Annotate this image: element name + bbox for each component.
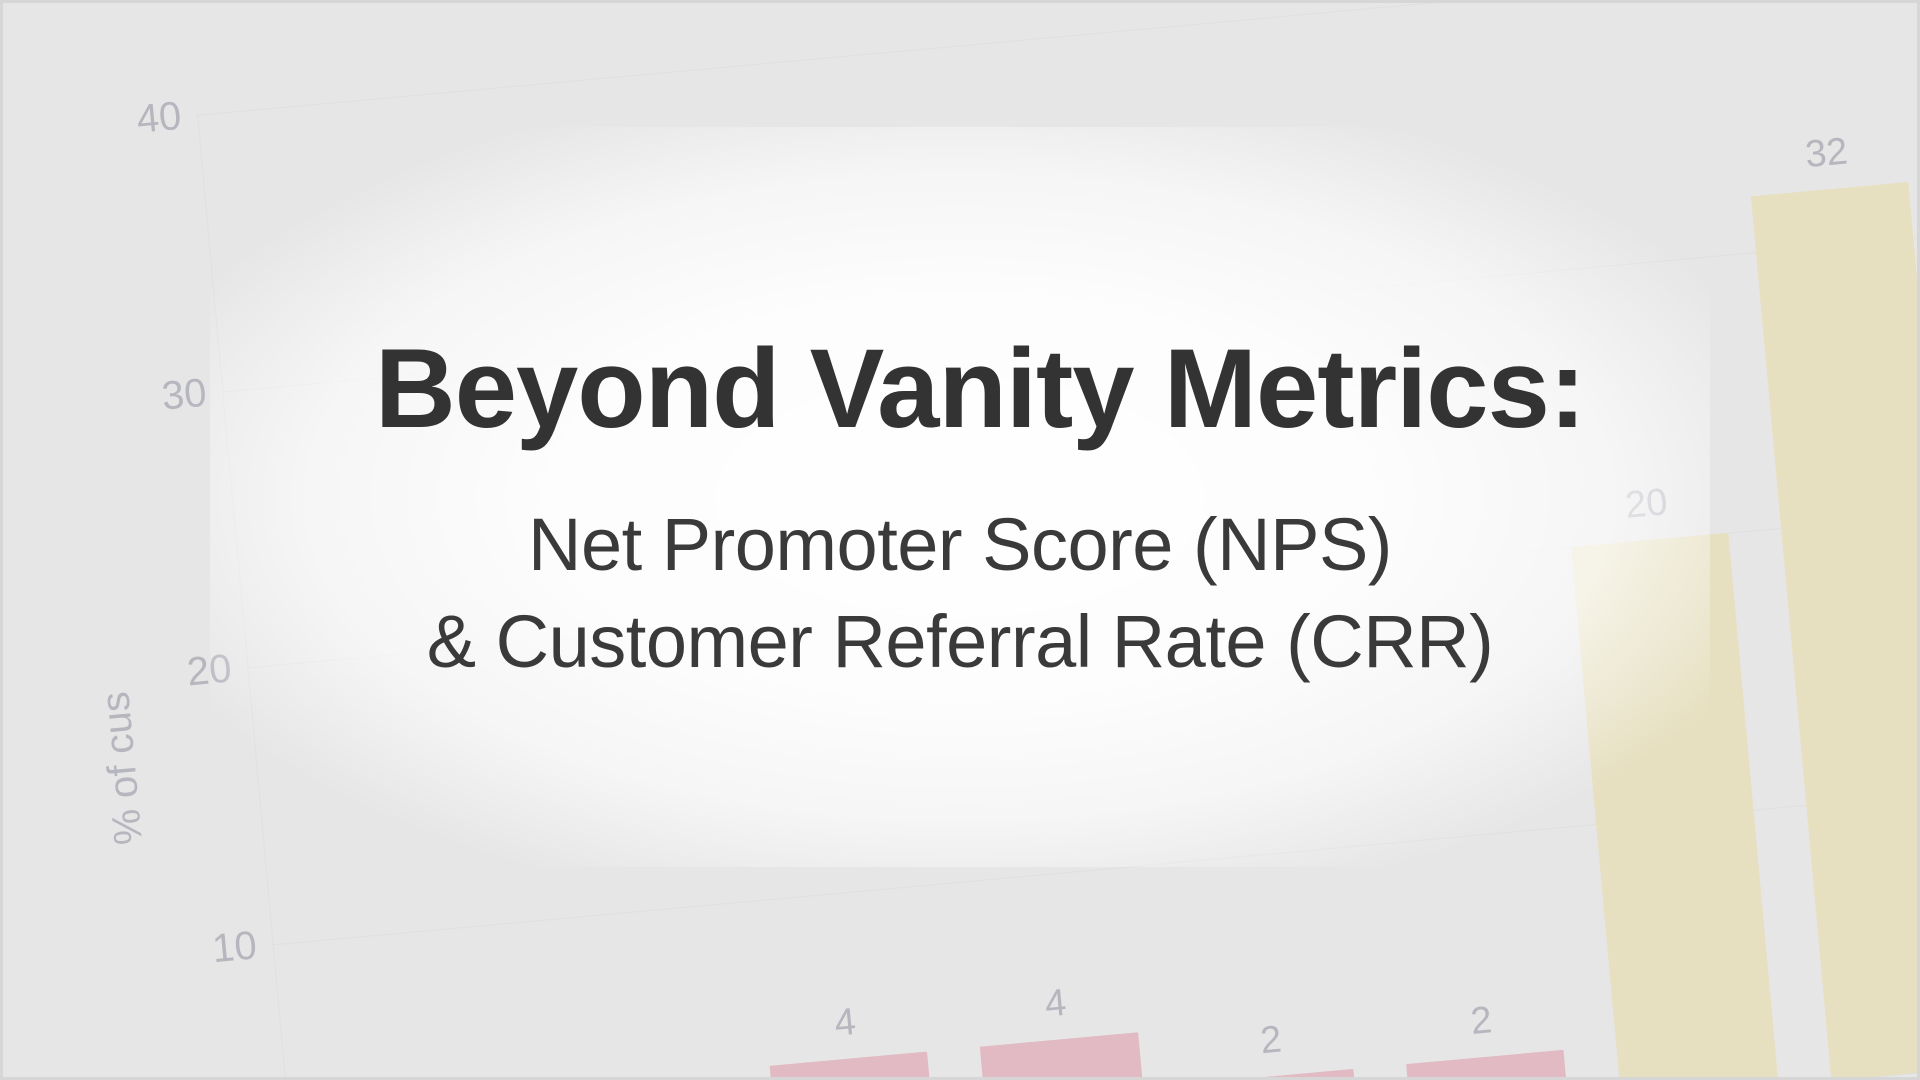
slide-canvas: 0 10 20 30 40 % of cus 0 0 4 4	[0, 0, 1920, 1080]
y-tick-10: 10	[210, 923, 258, 972]
slide-text-block: Beyond Vanity Metrics: Net Promoter Scor…	[0, 330, 1920, 691]
bar-value-3: 4	[1043, 982, 1068, 1027]
subtitle-line-1: Net Promoter Score (NPS)	[0, 496, 1920, 594]
subtitle-line-2: & Customer Referral Rate (CRR)	[0, 593, 1920, 691]
bar-detractor-5: 2	[1406, 1049, 1569, 1080]
y-axis-label: % of cus	[93, 690, 152, 847]
bar-value-7: 32	[1804, 130, 1850, 177]
gridline-40	[197, 0, 1920, 116]
y-tick-40: 40	[135, 94, 183, 143]
bar-detractor-3: 4	[980, 1032, 1148, 1080]
bar-value-5: 2	[1469, 999, 1494, 1044]
bar-detractor-2: 4	[770, 1051, 938, 1080]
page-title: Beyond Vanity Metrics:	[0, 330, 1920, 448]
bar-value-2: 4	[833, 1001, 858, 1046]
bar-detractor-4: 2	[1195, 1068, 1358, 1080]
bar-value-4: 2	[1258, 1018, 1283, 1063]
